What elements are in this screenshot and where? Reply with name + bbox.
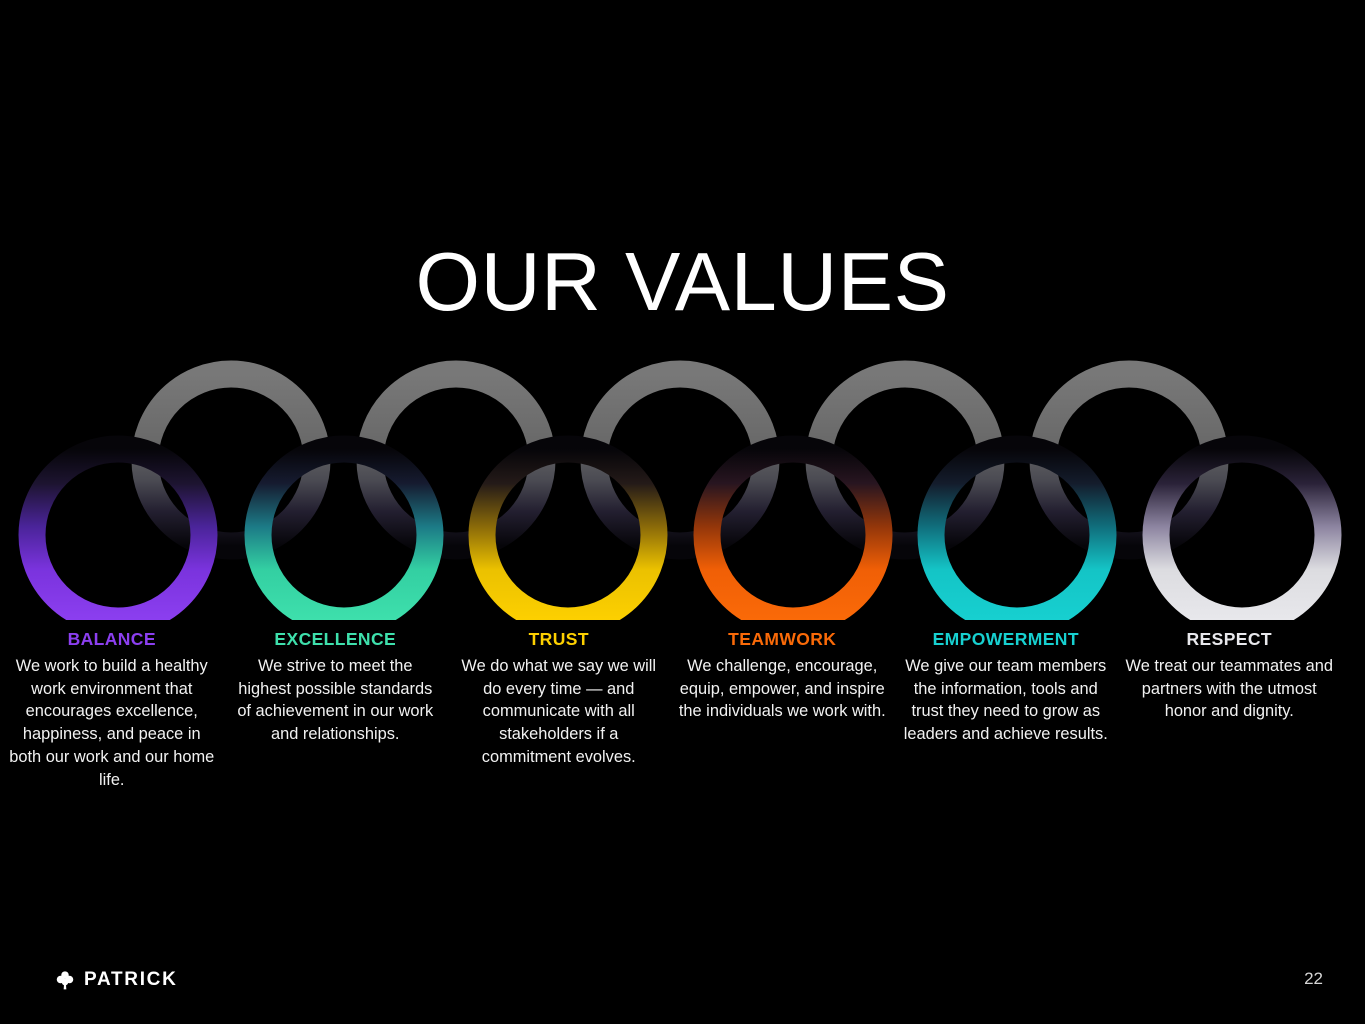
slide-root: OUR VALUES [0, 0, 1365, 1024]
values-rings-graphic [0, 360, 1365, 620]
page-number: 22 [1304, 969, 1323, 989]
value-title-teamwork: TEAMWORK [679, 628, 887, 650]
values-columns: BALANCE We work to build a healthy work … [0, 628, 1365, 791]
value-title-trust: TRUST [455, 628, 663, 650]
value-column-excellence: EXCELLENCE We strive to meet the highest… [224, 628, 448, 746]
value-body-empowerment: We give our team members the information… [902, 655, 1110, 746]
value-title-empowerment: EMPOWERMENT [902, 628, 1110, 650]
value-title-balance: BALANCE [8, 628, 216, 650]
value-body-trust: We do what we say we will do every time … [455, 655, 663, 769]
value-body-teamwork: We challenge, encourage, equip, empower,… [679, 655, 887, 723]
value-column-balance: BALANCE We work to build a healthy work … [0, 628, 224, 791]
value-column-respect: RESPECT We treat our teammates and partn… [1118, 628, 1342, 723]
value-column-empowerment: EMPOWERMENT We give our team members the… [894, 628, 1118, 746]
value-title-excellence: EXCELLENCE [232, 628, 440, 650]
value-column-trust: TRUST We do what we say we will do every… [447, 628, 671, 769]
logo-wordmark: PATRICK [84, 970, 178, 990]
value-column-teamwork: TEAMWORK We challenge, encourage, equip,… [671, 628, 895, 723]
value-body-balance: We work to build a healthy work environm… [8, 655, 216, 791]
clover-icon [55, 970, 75, 990]
footer-logo: PATRICK [55, 970, 178, 990]
page-title: OUR VALUES [0, 234, 1365, 330]
value-body-respect: We treat our teammates and partners with… [1126, 655, 1334, 723]
rings-svg [0, 360, 1365, 620]
value-body-excellence: We strive to meet the highest possible s… [232, 655, 440, 746]
value-title-respect: RESPECT [1126, 628, 1334, 650]
